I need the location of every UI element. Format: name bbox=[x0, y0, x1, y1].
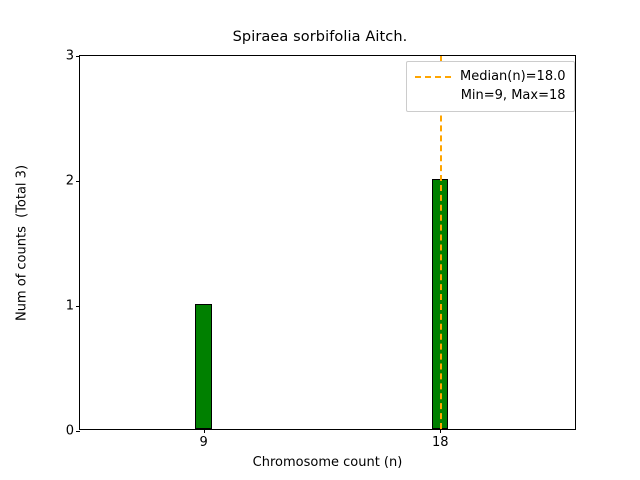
y-tick-mark bbox=[76, 56, 80, 57]
y-tick-label: 3 bbox=[66, 49, 74, 64]
y-tick-label: 2 bbox=[66, 174, 74, 189]
bar-9 bbox=[195, 304, 211, 429]
x-tick-label: 9 bbox=[199, 435, 207, 450]
y-tick-mark bbox=[76, 306, 80, 307]
x-tick-mark bbox=[204, 429, 205, 433]
y-tick-mark bbox=[76, 431, 80, 432]
y-axis-label: Num of counts (Total 3) bbox=[15, 164, 30, 320]
x-tick-mark bbox=[440, 429, 441, 433]
chart-legend: Median(n)=18.0 Min=9, Max=18 bbox=[406, 61, 575, 112]
legend-entry-minmax: Min=9, Max=18 bbox=[415, 86, 566, 105]
legend-label-minmax: Min=9, Max=18 bbox=[461, 88, 566, 103]
legend-dashed-line-icon bbox=[415, 76, 451, 78]
y-tick-mark bbox=[76, 181, 80, 182]
y-tick-label: 0 bbox=[66, 424, 74, 439]
legend-entry-median: Median(n)=18.0 bbox=[415, 67, 566, 86]
legend-label-median: Median(n)=18.0 bbox=[460, 69, 566, 84]
x-axis-label: Chromosome count (n) bbox=[79, 455, 576, 470]
y-axis-label-wrap: Num of counts (Total 3) bbox=[0, 55, 44, 430]
x-tick-label: 18 bbox=[432, 435, 449, 450]
chart-figure: Spiraea sorbifolia Aitch. 0123918 Num of… bbox=[0, 0, 640, 480]
page-title: Spiraea sorbifolia Aitch. bbox=[0, 29, 640, 45]
y-tick-label: 1 bbox=[66, 299, 74, 314]
